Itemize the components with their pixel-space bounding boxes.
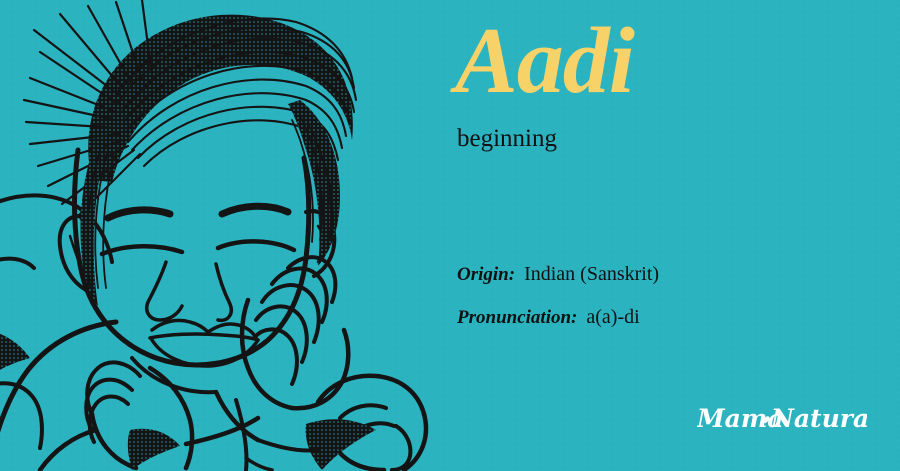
- sleeping-baby-illustration: [0, 0, 440, 471]
- baby-name-card: Aadi beginning Origin: Indian (Sanskrit)…: [0, 0, 900, 471]
- fact-row-pronunciation: Pronunciation: a(a)-di: [457, 306, 897, 329]
- fact-row-origin: Origin: Indian (Sanskrit): [457, 263, 897, 286]
- pronunciation-value: a(a)-di: [586, 306, 639, 329]
- fact-list: Origin: Indian (Sanskrit) Pronunciation:…: [457, 263, 897, 349]
- origin-value: Indian (Sanskrit): [524, 263, 659, 286]
- logo-word-natural: Natural: [770, 404, 867, 433]
- pronunciation-label: Pronunciation:: [457, 307, 577, 329]
- origin-label: Origin:: [457, 264, 515, 286]
- name-meaning: beginning: [457, 126, 557, 151]
- mama-natural-logo: Mama Natural: [697, 396, 867, 440]
- page-title: Aadi: [455, 14, 634, 108]
